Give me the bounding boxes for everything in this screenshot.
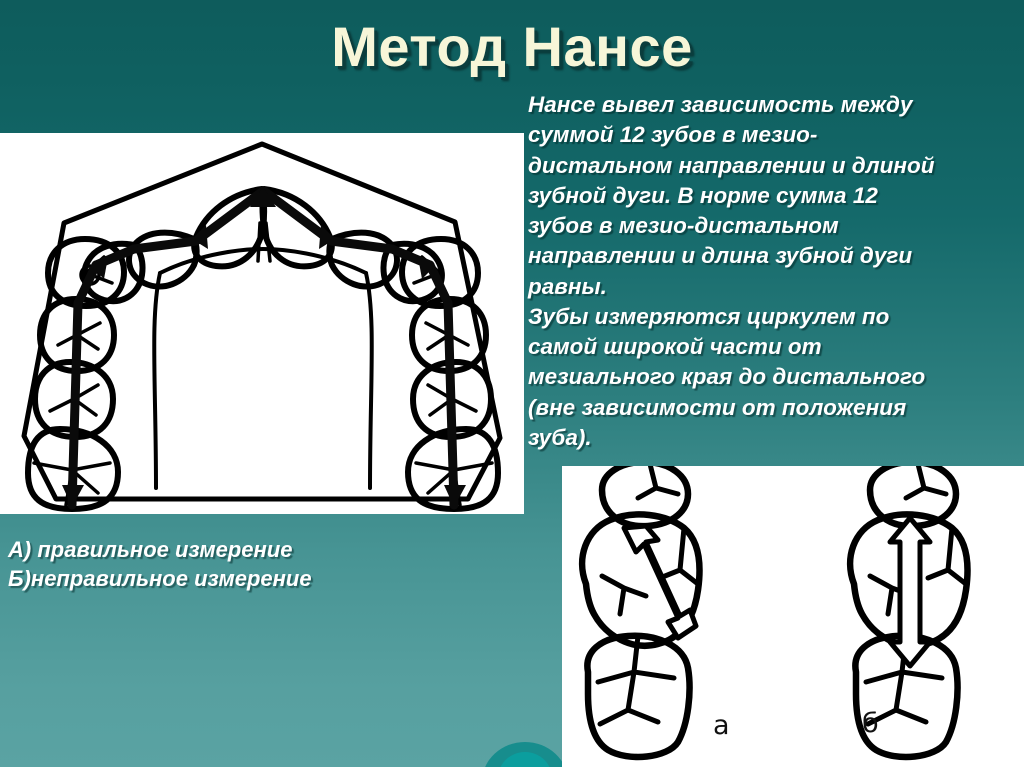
body-line: суммой 12 зубов в мезио- (528, 120, 1020, 150)
body-line: направлении и длина зубной дуги (528, 241, 1020, 271)
body-line: зубов в мезио-дистальном (528, 211, 1020, 241)
molar-measurement-diagram (562, 466, 1024, 767)
dental-arch-panel (0, 133, 524, 514)
body-line: зубной дуги. В норме сумма 12 (528, 181, 1020, 211)
body-line: мезиального края до дистального (528, 362, 1020, 392)
molar-measurement-panel (562, 466, 1024, 767)
body-line: зуба). (528, 423, 1020, 453)
caption-line-b: Б)неправильное измерение (8, 564, 508, 593)
arch-caption: А) правильное измерение Б)неправильное и… (8, 535, 508, 594)
body-line: Нансе вывел зависимость между (528, 90, 1020, 120)
body-line: равны. (528, 272, 1020, 302)
figure-label-a: а (713, 712, 730, 739)
figure-label-b: б (862, 710, 879, 737)
caption-line-a: А) правильное измерение (8, 535, 508, 564)
slide-root: Метод Нансе Нансе вывел зависимость межд… (0, 0, 1024, 767)
body-text-block: Нансе вывел зависимость между суммой 12 … (528, 90, 1020, 453)
page-title: Метод Нансе (0, 18, 1024, 77)
body-line: дистальном направлении и длиной (528, 151, 1020, 181)
body-line: (вне зависимости от положения (528, 393, 1020, 423)
body-line: Зубы измеряются циркулем по (528, 302, 1020, 332)
dental-arch-diagram (0, 133, 524, 514)
body-line: самой широкой части от (528, 332, 1020, 362)
